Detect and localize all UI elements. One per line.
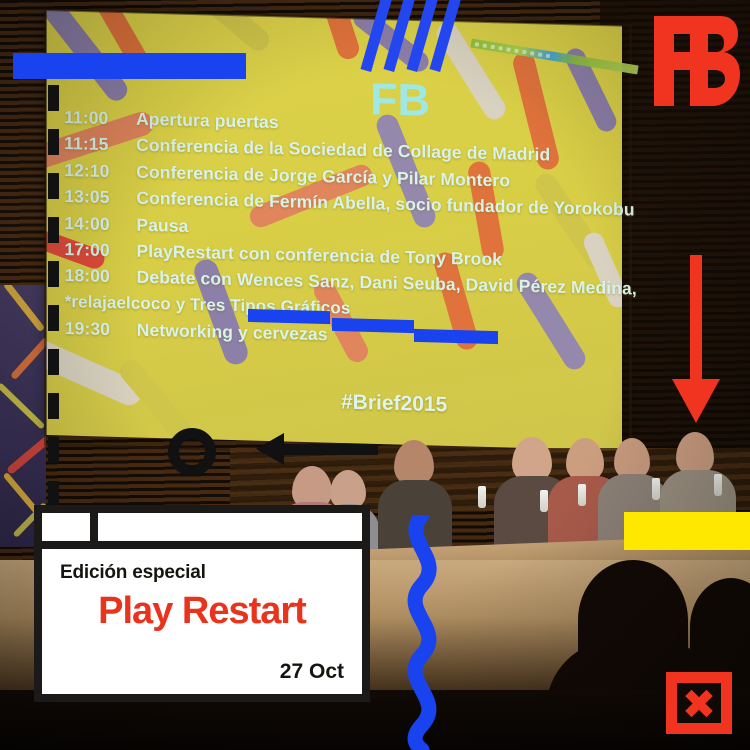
arrow-head [672, 379, 720, 423]
schedule-time: 17:00 [64, 236, 136, 264]
schedule-time: 18:00 [65, 262, 137, 290]
schedule-time: 14:00 [64, 210, 136, 238]
arrow-shaft [282, 444, 378, 455]
fb-logo [650, 14, 742, 108]
info-card: Edición especial Play Restart 27 Oct [34, 505, 370, 702]
card-body: Edición especial Play Restart 27 Oct [42, 549, 362, 694]
dashed-line-overlay [48, 85, 59, 515]
schedule-time: 19:30 [65, 315, 137, 343]
water-bottle [540, 490, 548, 512]
schedule-time: 11:00 [64, 104, 136, 132]
water-bottle [652, 478, 660, 500]
yellow-rectangle-overlay [624, 512, 750, 550]
close-icon [677, 683, 721, 723]
highlight-bar [414, 329, 498, 344]
water-bottle [578, 484, 586, 506]
x-badge-overlay [666, 672, 732, 734]
schedule-time: 11:15 [64, 130, 136, 158]
card-subtitle: Edición especial [60, 562, 344, 584]
blue-stripes-overlay [382, 0, 492, 70]
water-bottle [714, 474, 722, 496]
schedule-time: 13:05 [64, 183, 136, 211]
water-bottle [478, 486, 486, 508]
arrow-head [256, 433, 284, 465]
down-arrow-overlay [673, 255, 725, 423]
schedule-time: 12:10 [64, 157, 136, 185]
highlight-bar [248, 309, 330, 324]
highlight-bar [332, 318, 414, 333]
card-titlebar [42, 513, 362, 541]
card-titlebar-bar [98, 513, 362, 541]
card-titlebar-square [42, 513, 90, 541]
blue-bar-overlay [13, 53, 246, 79]
schedule-label: Apertura puertas [136, 109, 279, 132]
left-arrow-overlay [256, 430, 376, 470]
arrow-shaft [690, 255, 702, 387]
poster-canvas: FB 11:00Apertura puertas 11:15Conferenci… [0, 0, 750, 750]
schedule-label: Pausa [136, 214, 188, 235]
wavy-line-overlay [388, 515, 458, 750]
schedule-label: Networking y cervezas [137, 320, 328, 344]
card-title: Play Restart [60, 590, 344, 633]
card-date: 27 Oct [60, 660, 344, 684]
circle-outline-overlay [168, 428, 216, 476]
event-hashtag: #Brief2015 [341, 391, 447, 418]
